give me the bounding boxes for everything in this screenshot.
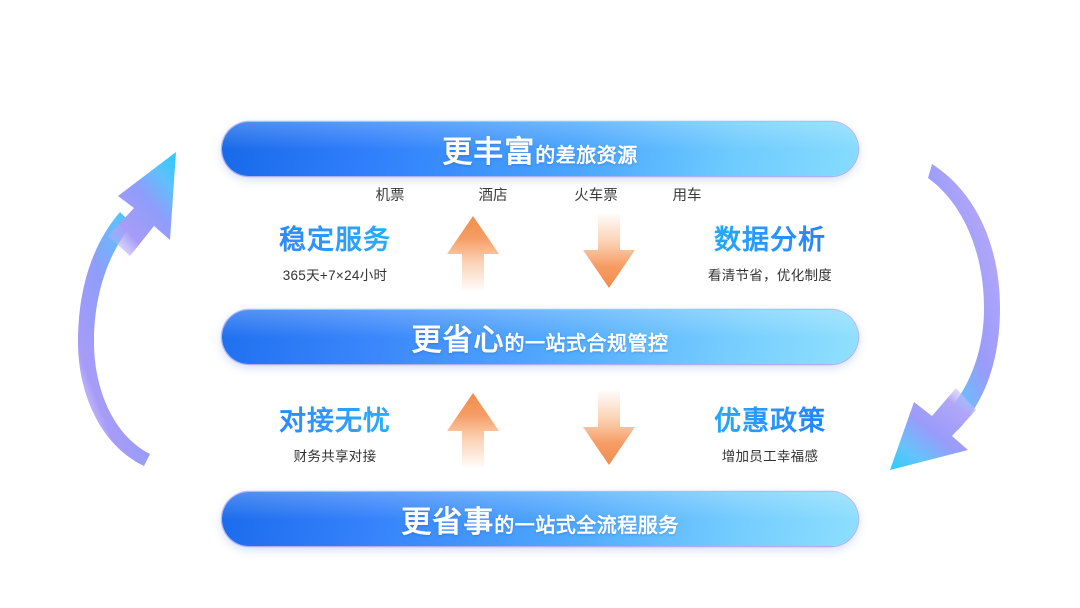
channel-item-train: 火车票 (574, 184, 618, 205)
feature-title: 稳定服务 (210, 225, 460, 255)
arrow-down-icon (580, 391, 638, 472)
arrow-up-icon (444, 391, 502, 472)
feature-data-analysis: 数据分析 看清节省，优化制度 (645, 225, 895, 284)
banner-highlight: 更省心 (412, 315, 505, 359)
feature-title: 优惠政策 (645, 406, 895, 436)
feature-subtitle: 财务共享对接 (210, 445, 460, 465)
banner-label: 更省心的一站式合规管控 (412, 315, 669, 359)
channel-item-flight: 机票 (376, 184, 405, 205)
feature-stable-service: 稳定服务 365天+7×24小时 (210, 225, 460, 284)
banner-label: 更省事的一站式全流程服务 (401, 497, 679, 541)
feature-subtitle: 365天+7×24小时 (210, 264, 460, 284)
banner-rest: 的一站式合规管控 (505, 327, 669, 356)
feature-title: 对接无忧 (210, 406, 460, 436)
arrow-down-icon (580, 214, 638, 295)
infographic-canvas: 更丰富的差旅资源 机票 酒店 火车票 用车 稳定服务 365天+7×24小时 数… (0, 0, 1080, 608)
channel-label-row: 机票 酒店 火车票 用车 (222, 184, 858, 204)
banner-full-process-service[interactable]: 更省事的一站式全流程服务 (222, 492, 858, 546)
banner-travel-resources[interactable]: 更丰富的差旅资源 (222, 122, 858, 176)
channel-item-hotel: 酒店 (479, 184, 508, 205)
banner-rest: 的一站式全流程服务 (494, 509, 679, 538)
feature-integration: 对接无忧 财务共享对接 (210, 406, 460, 465)
curved-arrow-up-left-icon (72, 150, 202, 485)
feature-subtitle: 看清节省，优化制度 (645, 264, 895, 284)
curved-arrow-down-right-icon (880, 140, 1010, 495)
banner-rest: 的差旅资源 (535, 139, 638, 168)
banner-highlight: 更丰富 (442, 127, 535, 171)
banner-compliance-control[interactable]: 更省心的一站式合规管控 (222, 310, 858, 364)
feature-title: 数据分析 (645, 225, 895, 255)
banner-label: 更丰富的差旅资源 (442, 127, 638, 171)
channel-item-car: 用车 (673, 184, 702, 205)
arrow-up-icon (444, 214, 502, 295)
feature-subtitle: 增加员工幸福感 (645, 445, 895, 465)
feature-discount-policy: 优惠政策 增加员工幸福感 (645, 406, 895, 465)
banner-highlight: 更省事 (401, 497, 494, 541)
